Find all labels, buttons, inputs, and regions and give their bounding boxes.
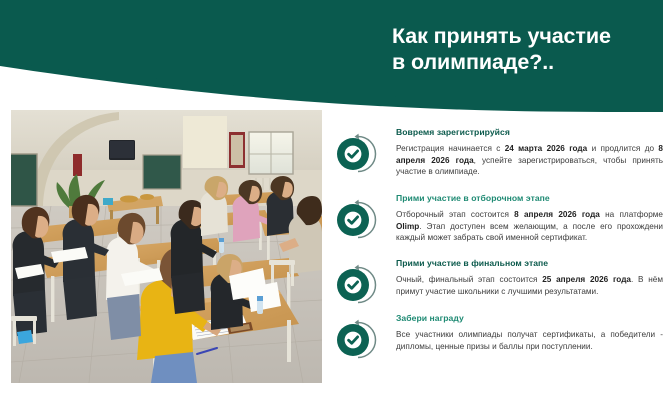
step-body: Вовремя зарегистрируйся Регистрация начи…	[396, 126, 663, 178]
check-circle-arrow-glyph	[334, 132, 378, 176]
step-text: Очный, финальный этап состоится 25 апрел…	[396, 274, 663, 297]
step-text: Регистрация начинается с 24 марта 2026 г…	[396, 143, 663, 178]
step-body: Забери награду Все участники олимпиады п…	[396, 312, 663, 352]
steps-list: Вовремя зарегистрируйся Регистрация начи…	[330, 126, 663, 384]
step-body: Прими участие в отборочном этапе Отбороч…	[396, 192, 663, 244]
check-circle-arrow-glyph	[334, 198, 378, 242]
step-title: Прими участие в финальном этапе	[396, 257, 663, 269]
classroom-photo	[11, 110, 322, 383]
step-text: Все участники олимпиады получат сертифик…	[396, 329, 663, 352]
step-title: Вовремя зарегистрируйся	[396, 126, 663, 138]
step-title: Прими участие в отборочном этапе	[396, 192, 663, 204]
step-body: Прими участие в финальном этапе Очный, ф…	[396, 257, 663, 297]
check-circle-arrow-icon	[334, 263, 378, 307]
check-circle-arrow-icon	[334, 198, 378, 242]
classroom-photo-illustration	[11, 110, 322, 383]
check-circle-arrow-icon	[334, 132, 378, 176]
step-text: Отборочный этап состоится 8 апреля 2026 …	[396, 209, 663, 244]
check-circle-arrow-glyph	[334, 318, 378, 362]
step-title: Забери награду	[396, 312, 663, 324]
page-title: Как принять участие в олимпиаде?..	[392, 23, 660, 75]
check-circle-arrow-glyph	[334, 263, 378, 307]
slide-root: Как принять участие в олимпиаде?..	[0, 0, 663, 400]
check-circle-arrow-icon	[334, 318, 378, 362]
